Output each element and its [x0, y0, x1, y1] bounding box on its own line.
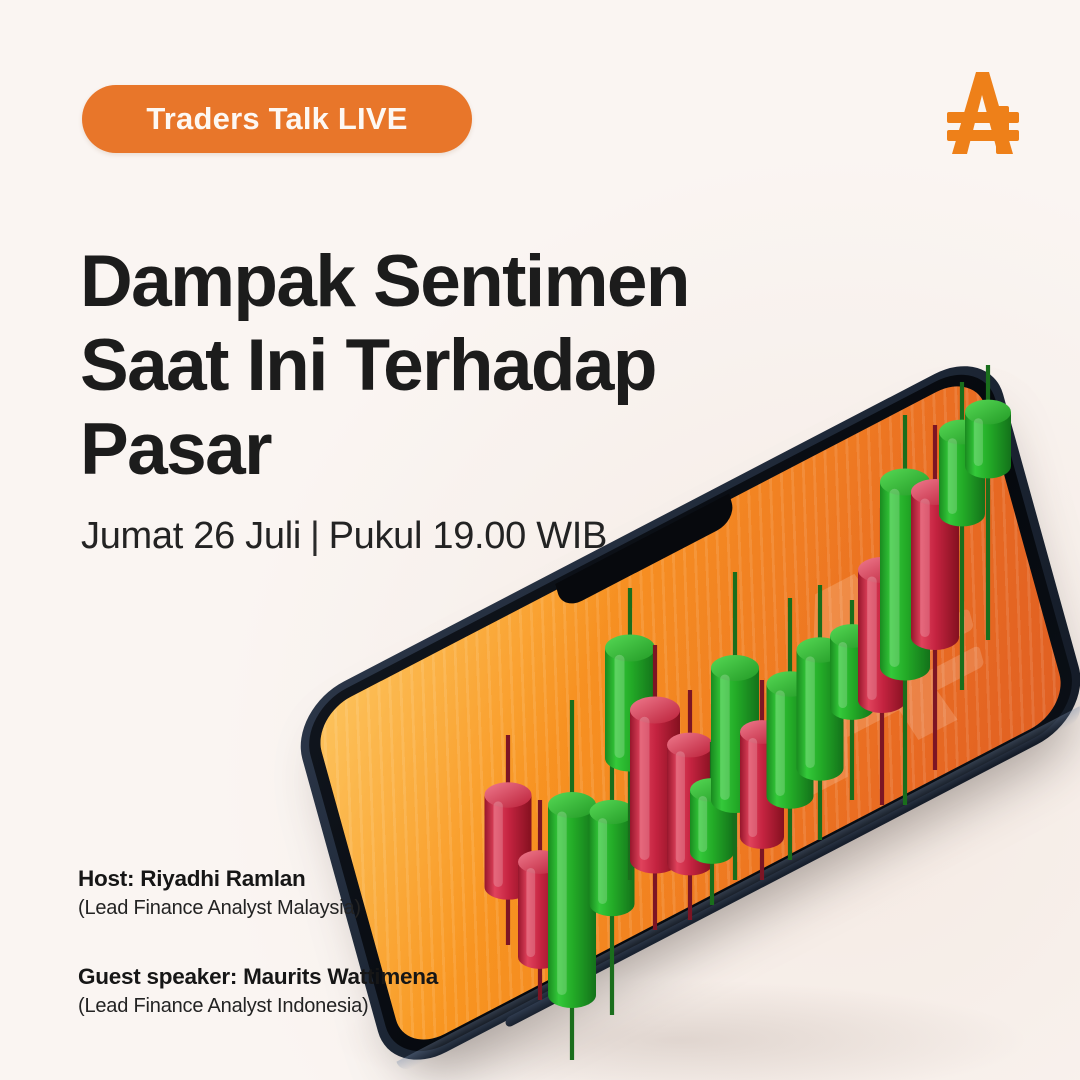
guest-name: Guest speaker: Maurits Wattimena — [78, 964, 598, 990]
schedule-time: Pukul 19.00 WIB — [329, 515, 608, 557]
promo-poster: Traders Talk LIVE Dampak Sentimen Saat I… — [0, 0, 1080, 1080]
a-currency-logo-icon — [932, 62, 1032, 162]
page-title: Dampak Sentimen Saat Ini Terhadap Pasar — [80, 245, 810, 497]
credits-block: Host: Riyadhi Ramlan (Lead Finance Analy… — [78, 866, 598, 1018]
schedule-separator: | — [301, 515, 329, 557]
host-name: Host: Riyadhi Ramlan — [78, 866, 598, 892]
guest-role: (Lead Finance Analyst Indonesia) — [78, 995, 598, 1018]
live-badge-label: Traders Talk LIVE — [146, 101, 407, 137]
credits-spacer — [78, 920, 598, 964]
headline-line-2: Saat Ini Terhadap — [80, 329, 810, 402]
headline-line-1: Dampak Sentimen — [80, 245, 810, 318]
live-badge[interactable]: Traders Talk LIVE — [82, 85, 472, 153]
headline-line-3: Pasar — [80, 413, 810, 486]
host-role: (Lead Finance Analyst Malaysia) — [78, 897, 598, 920]
schedule-line: Jumat 26 Juli|Pukul 19.00 WIB — [81, 515, 607, 558]
schedule-date: Jumat 26 Juli — [81, 515, 301, 557]
